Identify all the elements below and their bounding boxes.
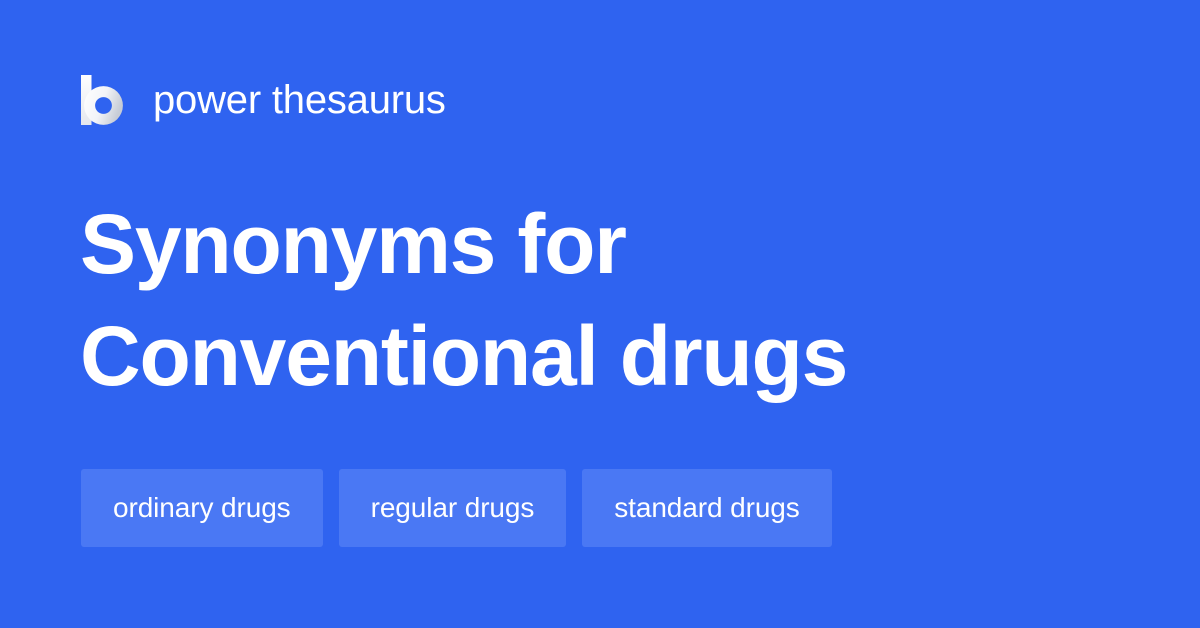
- page-title: Synonyms for Conventional drugs: [80, 188, 1120, 412]
- synonym-pill-3[interactable]: standard drugs: [582, 469, 831, 547]
- brand-name: power thesaurus: [153, 80, 446, 120]
- share-card: power thesaurus Synonyms for Conventiona…: [0, 0, 1200, 628]
- synonym-pill-1[interactable]: ordinary drugs: [81, 469, 323, 547]
- power-thesaurus-b-logo-icon: [81, 75, 126, 125]
- synonym-list: ordinary drugs regular drugs standard dr…: [81, 469, 832, 547]
- headline-line-1: Synonyms for: [80, 188, 1120, 300]
- synonym-pill-2[interactable]: regular drugs: [339, 469, 567, 547]
- headline-line-2: Conventional drugs: [80, 300, 1120, 412]
- brand-header[interactable]: power thesaurus: [81, 70, 446, 130]
